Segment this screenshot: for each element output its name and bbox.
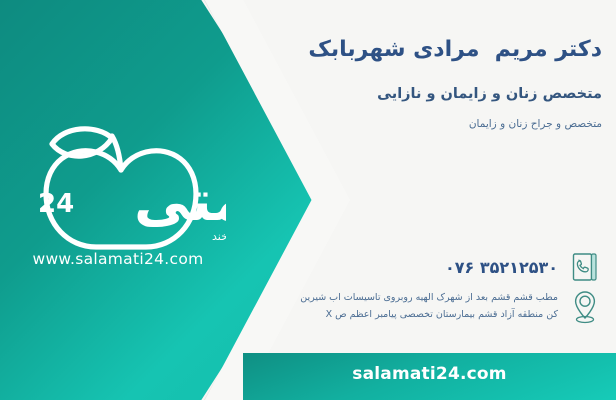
- logo-tagline: براحتی یک لبخند: [212, 230, 226, 243]
- footer-site[interactable]: salamati24.com: [243, 364, 616, 384]
- phone-book-icon: [568, 248, 602, 286]
- footer-bar: salamati24.com: [243, 353, 616, 400]
- phone-number[interactable]: ۳۵۲۱۲۵۳۰ ۰۷۶: [182, 258, 558, 277]
- address-row: مطب قشم قشم بعد از شهرک الهیه روبروی تاس…: [182, 288, 602, 326]
- doctor-name: دکتر مریم مرادی شهربابک: [182, 36, 602, 64]
- doctor-specialty: متخصص زنان و زایمان و نازایی: [182, 86, 602, 102]
- logo-wordmark: سلامتی: [134, 169, 226, 234]
- doctor-specialty-sub: متخصص و جراح زنان و زایمان: [182, 118, 602, 130]
- address-text-wrap: مطب قشم قشم بعد از شهرک الهیه روبروی تاس…: [182, 290, 558, 323]
- salamati24-logo: سلامتی 24 براحتی یک لبخند: [16, 112, 226, 262]
- apple-outline-logo: سلامتی 24 براحتی یک لبخند: [16, 112, 226, 262]
- phone-text-wrap: ۳۵۲۱۲۵۳۰ ۰۷۶: [182, 258, 558, 277]
- phone-row: ۳۵۲۱۲۵۳۰ ۰۷۶: [182, 248, 602, 286]
- business-card: سلامتی 24 براحتی یک لبخند www.salamati24…: [0, 0, 616, 400]
- location-pin-icon: [568, 288, 602, 326]
- logo-badge-number: 24: [38, 189, 74, 219]
- address-line-1: مطب قشم قشم بعد از شهرک الهیه روبروی تاس…: [182, 290, 558, 307]
- card-content: دکتر مریم مرادی شهربابک متخصص زنان و زای…: [182, 0, 602, 130]
- logo-badge-24: 24: [38, 189, 74, 219]
- address-line-2: کن منطقه آزاد قشم بیمارستان تخصصی پیامبر…: [182, 307, 558, 324]
